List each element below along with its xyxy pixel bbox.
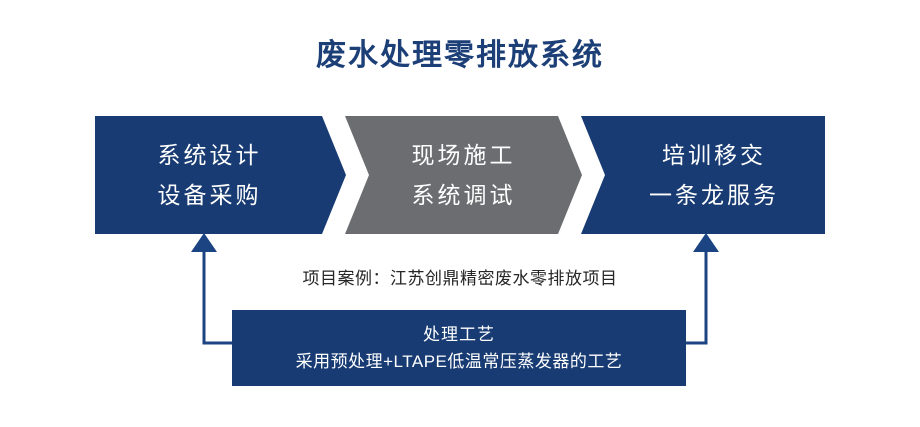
process-step-3[interactable]: 培训移交 一条龙服务 [581, 116, 825, 234]
process-step-1[interactable]: 系统设计 设备采购 [95, 116, 346, 234]
process-flow: 系统设计 设备采购 现场施工 系统调试 培训移交 一条龙服务 [0, 116, 920, 234]
process-step-3-line2: 一条龙服务 [649, 175, 779, 215]
project-case-caption: 项目案例：江苏创鼎精密废水零排放项目 [0, 266, 920, 292]
process-detail-description: 采用预处理+LTAPE低温常压蒸发器的工艺 [296, 348, 623, 375]
diagram-canvas: 废水处理零排放系统 系统设计 设备采购 现场施工 系统调试 培训移交 一条龙服务… [0, 0, 920, 427]
page-title: 废水处理零排放系统 [0, 36, 920, 76]
process-detail-box[interactable]: 处理工艺 采用预处理+LTAPE低温常压蒸发器的工艺 [232, 310, 686, 386]
process-step-2[interactable]: 现场施工 系统调试 [345, 116, 582, 234]
process-step-1-line2: 设备采购 [158, 175, 262, 215]
process-step-3-line1: 培训移交 [662, 135, 766, 175]
process-step-2-line1: 现场施工 [412, 135, 516, 175]
process-detail-title: 处理工艺 [423, 321, 495, 348]
process-step-1-line1: 系统设计 [158, 135, 262, 175]
process-step-2-line2: 系统调试 [412, 175, 516, 215]
